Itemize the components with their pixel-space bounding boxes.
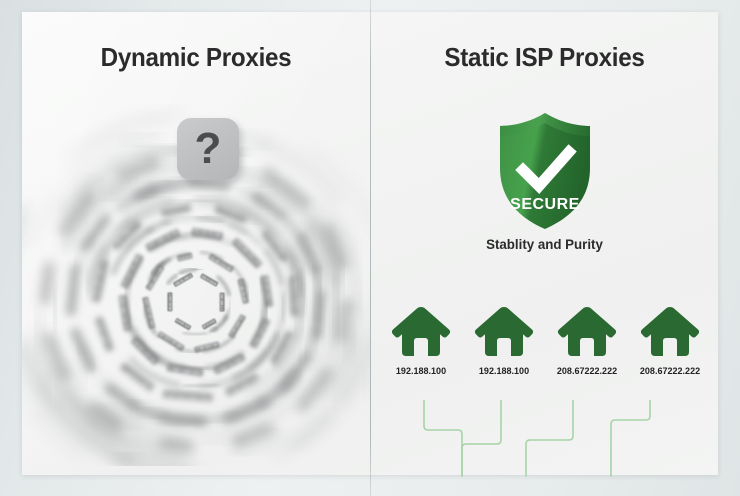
left-panel-title: Dynamic Proxies [34,42,358,73]
house-ip-label: 192.188.100 [468,366,540,377]
swirl-streak [22,212,24,325]
swirl-streak [183,332,205,334]
infographic-poster: Dynamic Proxies [0,0,740,496]
shield-label: SECURE [510,196,580,213]
house-icon [556,304,618,359]
question-mark-icon: ? [177,118,239,180]
house-ip-label: 208.67222.222 [634,366,706,377]
right-panel: Static ISP Proxies [371,12,718,475]
right-panel-title: Static ISP Proxies [383,42,706,73]
house-cell: 208.67222.222 [632,304,708,377]
house-cell: 208.67222.222 [549,304,625,377]
house-icon [390,304,452,359]
house-icon [473,304,535,359]
swirl-streak [28,195,58,246]
house-ip-label: 192.188.100 [385,366,457,377]
house-cell: 192.188.100 [383,304,459,377]
left-panel: Dynamic Proxies [22,12,370,475]
swirl-streak [54,292,56,327]
house-cell: 192.188.100 [466,304,542,377]
secure-shield-icon: SECURE [493,110,597,232]
ip-tag: 45.82.110.7 [167,293,172,312]
ip-tag: 192.168.1.1 [219,293,224,312]
swirl-streak [310,149,370,225]
swirl-streak [230,301,231,308]
circuit-traces-icon [383,400,708,486]
shield-subtitle: Stablity and Purity [380,236,710,252]
shield-container: SECURE [371,110,718,237]
panel-divider [370,0,371,496]
swirl-streak [331,303,338,345]
house-ip-label: 208.67222.222 [551,366,623,377]
swirl-streak [185,384,216,386]
house-row: 192.188.100192.188.100208.67222.222208.6… [383,304,708,377]
swirl-streak [69,364,83,385]
swirl-streak [275,292,284,339]
house-icon [639,304,701,359]
swirl-streak [164,218,200,224]
